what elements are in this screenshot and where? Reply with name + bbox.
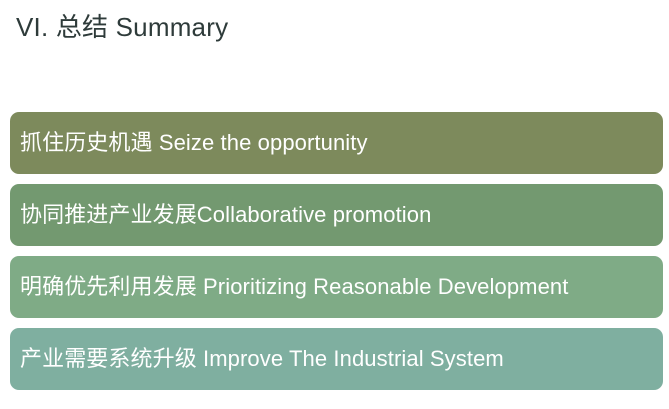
summary-bar-2-label: 协同推进产业发展Collaborative promotion <box>20 200 431 230</box>
summary-bar-list: 抓住历史机遇 Seize the opportunity 协同推进产业发展Col… <box>10 112 663 390</box>
summary-bar-1-label: 抓住历史机遇 Seize the opportunity <box>20 128 368 158</box>
summary-bar-4-label: 产业需要系统升级 Improve The Industrial System <box>20 344 504 374</box>
summary-slide: VI. 总结 Summary 抓住历史机遇 Seize the opportun… <box>0 0 669 409</box>
summary-bar-3-label: 明确优先利用发展 Prioritizing Reasonable Develop… <box>20 272 568 302</box>
summary-bar-1[interactable]: 抓住历史机遇 Seize the opportunity <box>10 112 663 174</box>
page-title: VI. 总结 Summary <box>16 9 228 45</box>
summary-bar-2[interactable]: 协同推进产业发展Collaborative promotion <box>10 184 663 246</box>
summary-bar-3[interactable]: 明确优先利用发展 Prioritizing Reasonable Develop… <box>10 256 663 318</box>
summary-bar-4[interactable]: 产业需要系统升级 Improve The Industrial System <box>10 328 663 390</box>
